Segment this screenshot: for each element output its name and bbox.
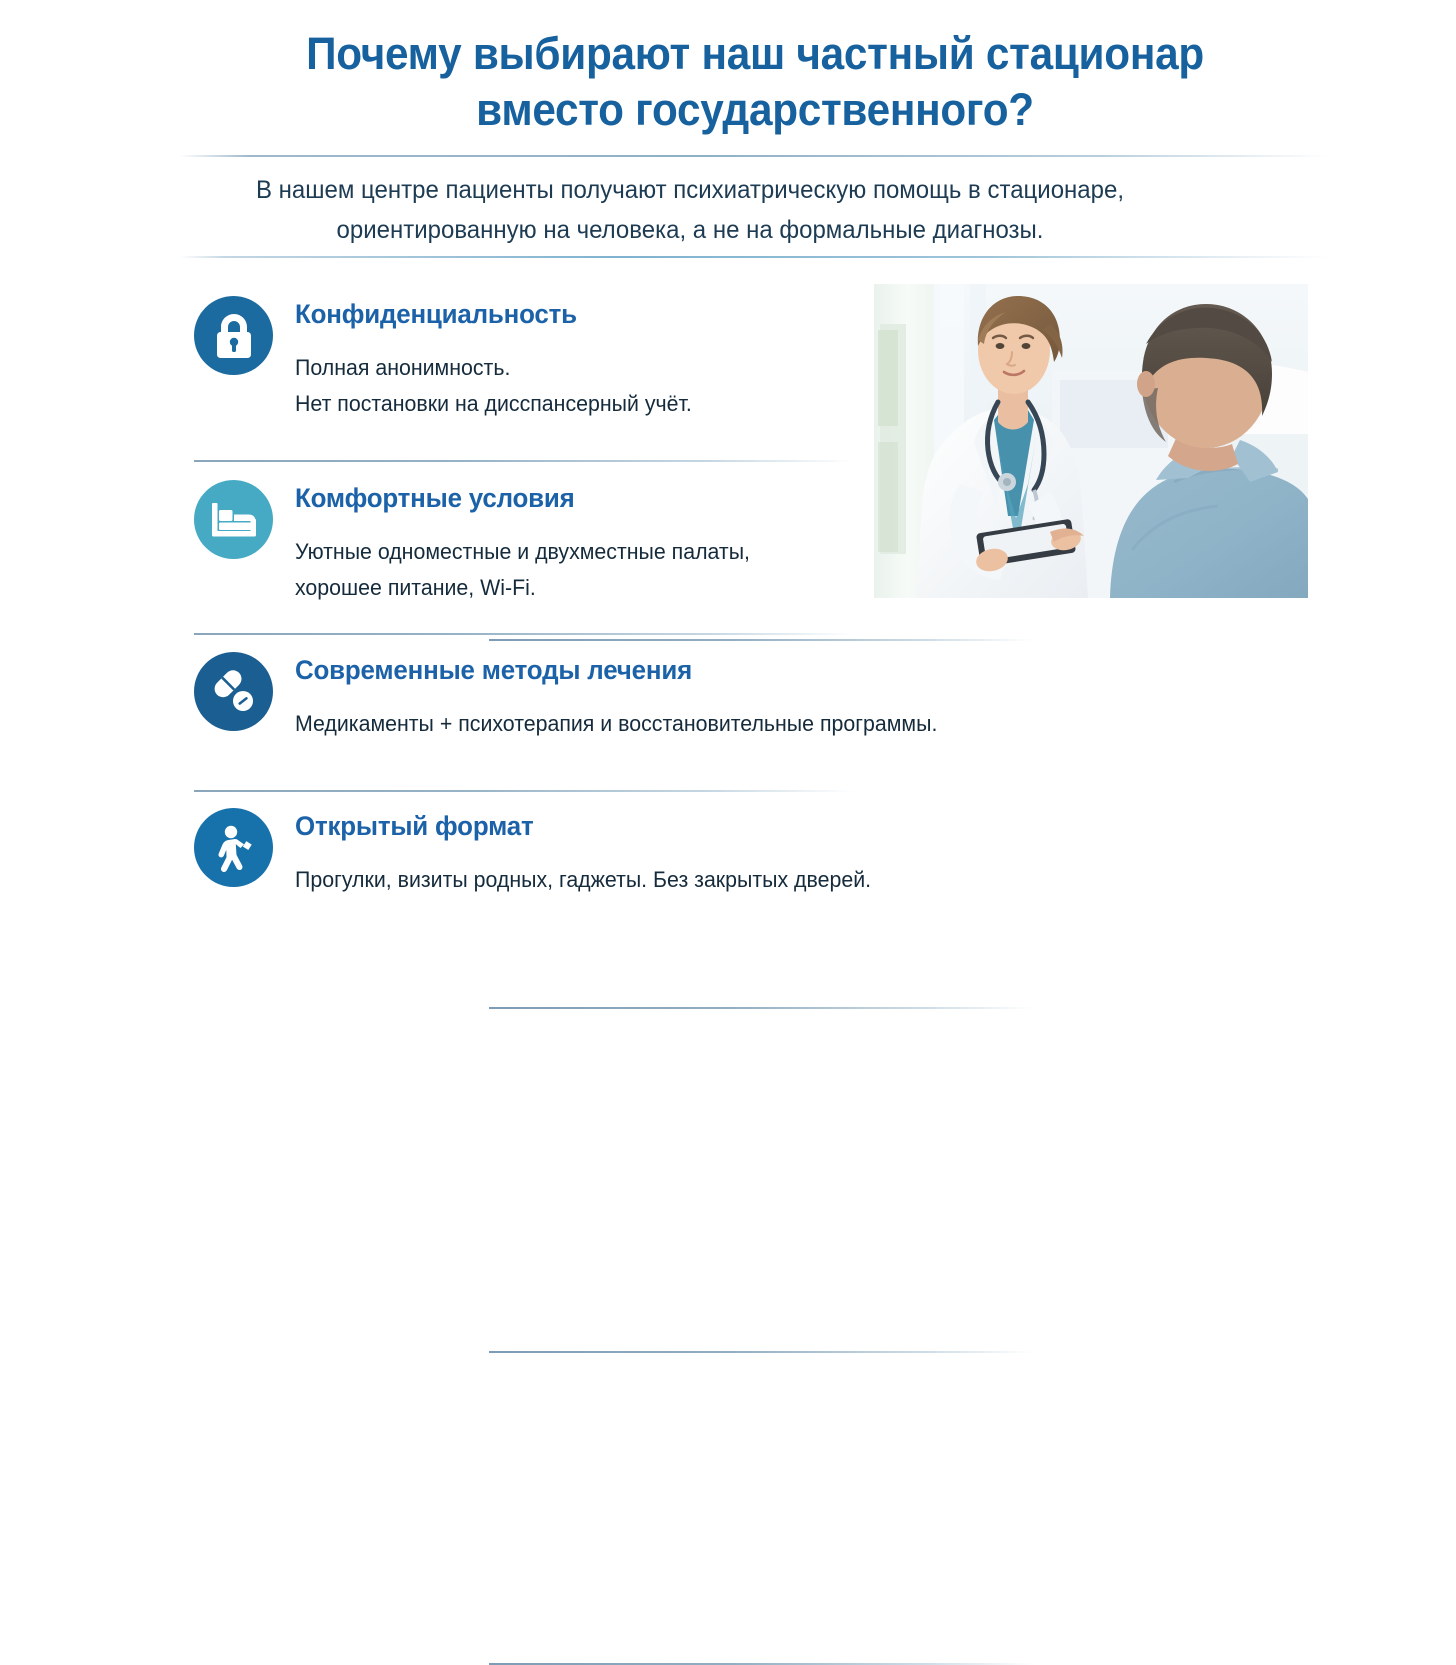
- page-title: Почему выбирают наш частный стационар вм…: [180, 26, 1330, 138]
- feature-description: Уютные одноместные и двухместные палаты,…: [295, 534, 866, 606]
- feature-description: Полная анонимность. Нет постановки на ди…: [295, 350, 866, 422]
- feature-block-treatment: Современные методы лечения Медикаменты +…: [194, 652, 884, 742]
- feature-title: Открытый формат: [295, 810, 860, 842]
- doctor-patient-consultation-photo: [874, 284, 1308, 598]
- feature-description: Медикаменты + психотерапия и восстановит…: [295, 706, 866, 742]
- walking-person-icon: [194, 808, 273, 887]
- divider-between-sections: [194, 460, 854, 462]
- feature-block-open-format: Открытый формат Прогулки, визиты родных,…: [194, 808, 884, 898]
- feature-body: Открытый формат Прогулки, визиты родных,…: [295, 808, 884, 898]
- lock-icon: [194, 296, 273, 375]
- divider-under-feature-title: [489, 639, 1034, 641]
- feature-description-line: Уютные одноместные и двухместные палаты,: [295, 534, 866, 570]
- feature-description-line: Нет постановки на дисспансерный учёт.: [295, 386, 866, 422]
- feature-body: Комфортные условия Уютные одноместные и …: [295, 480, 884, 606]
- page-title-line-1: Почему выбирают наш частный стационар: [215, 26, 1296, 82]
- divider-under-feature-title: [489, 1007, 1034, 1009]
- feature-block-confidentiality: Конфиденциальность Полная анонимность. Н…: [194, 296, 884, 422]
- feature-description-line: Прогулки, визиты родных, гаджеты. Без за…: [295, 862, 866, 898]
- feature-description-line: Медикаменты + психотерапия и восстановит…: [295, 706, 866, 742]
- intro-paragraph: В нашем центре пациенты получают психиат…: [210, 170, 1170, 250]
- bed-icon: [194, 480, 273, 559]
- divider-between-sections: [194, 633, 854, 635]
- pills-icon: [194, 652, 273, 731]
- feature-description: Прогулки, визиты родных, гаджеты. Без за…: [295, 862, 866, 898]
- divider-under-intro: [180, 256, 1330, 258]
- feature-title: Современные методы лечения: [295, 654, 860, 686]
- infographic-page: Почему выбирают наш частный стационар вм…: [0, 0, 1456, 1024]
- feature-title: Конфиденциальность: [295, 298, 860, 330]
- feature-description-line: хорошее питание, Wi-Fi.: [295, 570, 866, 606]
- divider-under-feature-title: [489, 1351, 1034, 1353]
- feature-body: Конфиденциальность Полная анонимность. Н…: [295, 296, 884, 422]
- feature-block-comfort: Комфортные условия Уютные одноместные и …: [194, 480, 884, 606]
- feature-title: Комфортные условия: [295, 482, 860, 514]
- divider-between-sections: [194, 790, 854, 792]
- intro-line-2: ориентированную на человека, а не на фор…: [210, 210, 1170, 250]
- page-title-line-2: вместо государственного?: [215, 82, 1296, 138]
- divider-under-title: [180, 155, 1330, 157]
- intro-line-1: В нашем центре пациенты получают психиат…: [210, 170, 1170, 210]
- feature-description-line: Полная анонимность.: [295, 350, 866, 386]
- feature-body: Современные методы лечения Медикаменты +…: [295, 652, 884, 742]
